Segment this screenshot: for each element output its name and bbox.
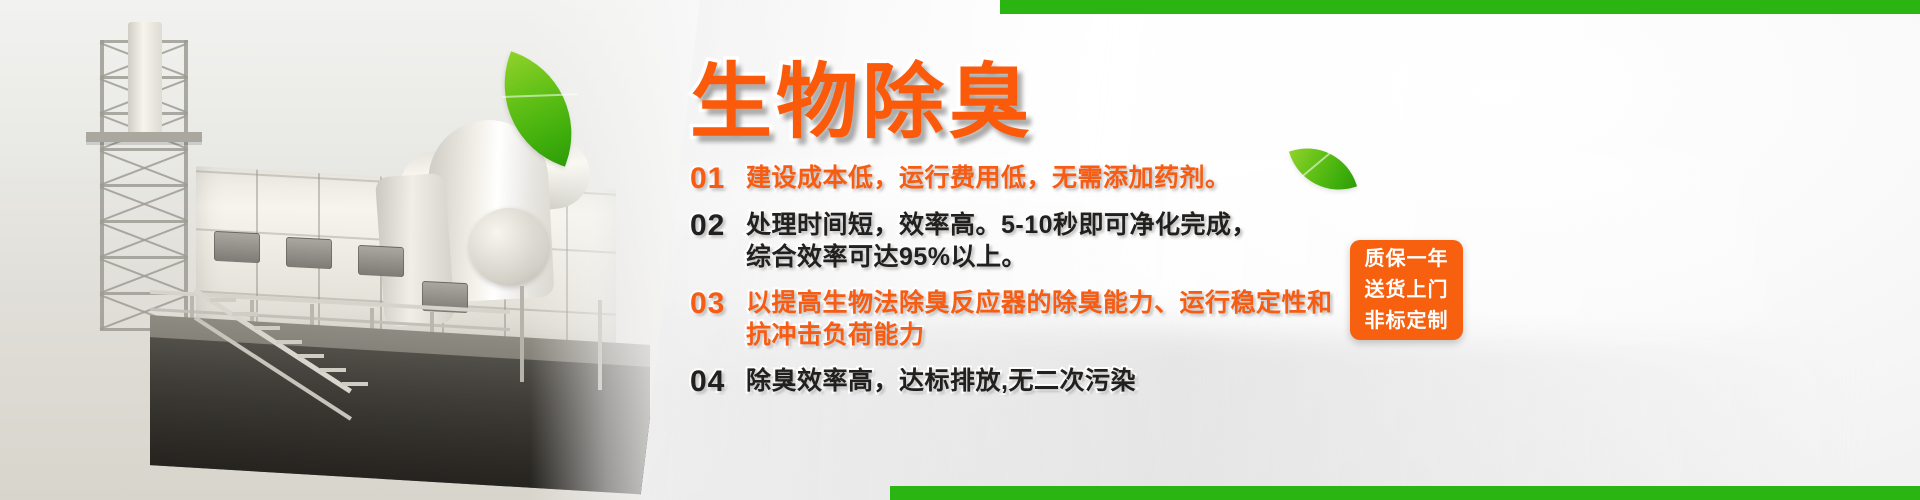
chimney-stack (128, 22, 162, 142)
badge-line-warranty: 质保一年 (1365, 244, 1449, 275)
service-guarantee-badge: 质保一年 送货上门 非标定制 (1350, 240, 1463, 340)
feature-line-1: 以提高生物法除臭反应器的除臭能力、运行稳定性和 (746, 289, 1333, 317)
feature-text: 建设成本低，运行费用低，无需添加药剂。 (746, 162, 1550, 194)
badge-line-delivery: 送货上门 (1365, 275, 1449, 306)
badge-line-custom: 非标定制 (1365, 306, 1449, 337)
feature-line-1: 处理时间短，效率高。5-10秒即可净化完成， (746, 211, 1257, 239)
access-stairs (196, 288, 376, 438)
feature-number: 01 (690, 162, 746, 195)
feature-number: 03 (690, 287, 746, 320)
feature-line-1: 除臭效率高，达标排放,无二次污染 (746, 367, 1136, 395)
feature-number: 04 (690, 365, 746, 398)
tank-window (358, 245, 404, 277)
feature-number: 02 (690, 209, 746, 242)
feature-item: 04 除臭效率高，达标排放,无二次污染 (690, 365, 1550, 398)
banner-title: 生物除臭 (690, 62, 1034, 144)
promo-banner: 生物除臭 01 建设成本低，运行费用低，无需添加药剂。 02 处理时间短，效率高… (0, 0, 1920, 500)
feature-item: 01 建设成本低，运行费用低，无需添加药剂。 (690, 162, 1550, 195)
equipment-photo (0, 0, 700, 500)
feature-line-1: 建设成本低，运行费用低，无需添加药剂。 (746, 164, 1231, 192)
tank-window (286, 237, 332, 269)
feature-text: 除臭效率高，达标排放,无二次污染 (746, 365, 1550, 397)
tank-window (214, 231, 260, 263)
tower-platform (86, 132, 202, 142)
